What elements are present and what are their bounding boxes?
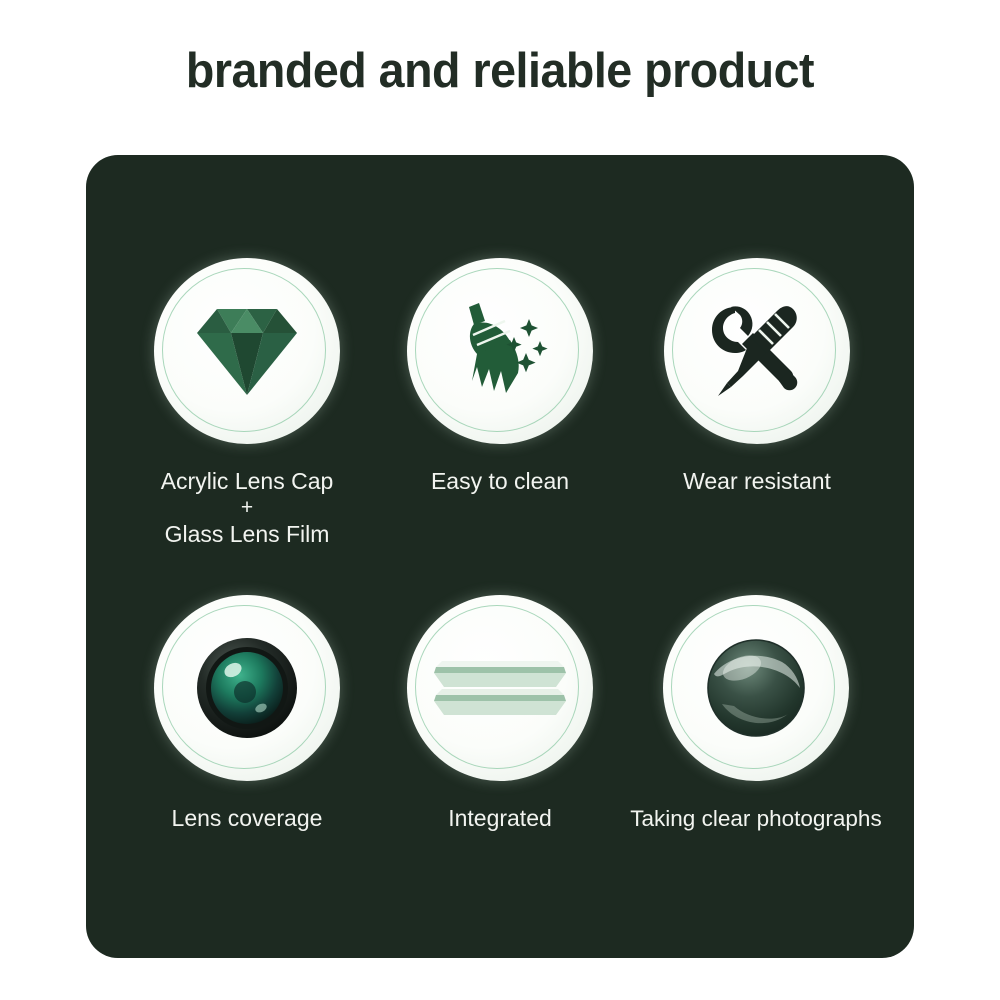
medallion [663, 595, 849, 781]
medallion [664, 258, 850, 444]
feature-label: Lens coverage [109, 803, 385, 834]
stacked-glass-layers-icon [407, 595, 593, 781]
feature-item-easy-to-clean[interactable]: Easy to clean [362, 258, 638, 497]
feature-label: Wear resistant [619, 466, 895, 497]
medallion [407, 595, 593, 781]
page-title: branded and reliable product [25, 40, 975, 102]
medallion [154, 595, 340, 781]
feature-item-lens-coverage[interactable]: Lens coverage [109, 595, 385, 834]
feature-item-acrylic-lens-cap[interactable]: Acrylic Lens Cap + Glass Lens Film [109, 258, 385, 550]
feature-label-line-1: Acrylic Lens Cap [109, 466, 385, 497]
medallion [154, 258, 340, 444]
diamond-icon [154, 258, 340, 444]
feature-label: Integrated [362, 803, 638, 834]
medallion [407, 258, 593, 444]
feature-grid: Acrylic Lens Cap + Glass Lens Film [86, 155, 914, 958]
feature-item-wear-resistant[interactable]: Wear resistant [619, 258, 895, 497]
feature-label: Acrylic Lens Cap + Glass Lens Film [109, 466, 385, 550]
broom-sparkle-icon [407, 258, 593, 444]
feature-label: Taking clear photographs [606, 803, 906, 834]
glass-dome-icon [663, 595, 849, 781]
feature-item-integrated[interactable]: Integrated [362, 595, 638, 834]
wrench-screwdriver-icon [664, 258, 850, 444]
feature-panel: Acrylic Lens Cap + Glass Lens Film [86, 155, 914, 958]
feature-label-plus: + [109, 497, 385, 519]
camera-lens-icon [154, 595, 340, 781]
feature-label: Easy to clean [362, 466, 638, 497]
feature-label-line-2: Glass Lens Film [109, 519, 385, 550]
feature-item-taking-clear-photographs[interactable]: Taking clear photographs [606, 595, 906, 834]
